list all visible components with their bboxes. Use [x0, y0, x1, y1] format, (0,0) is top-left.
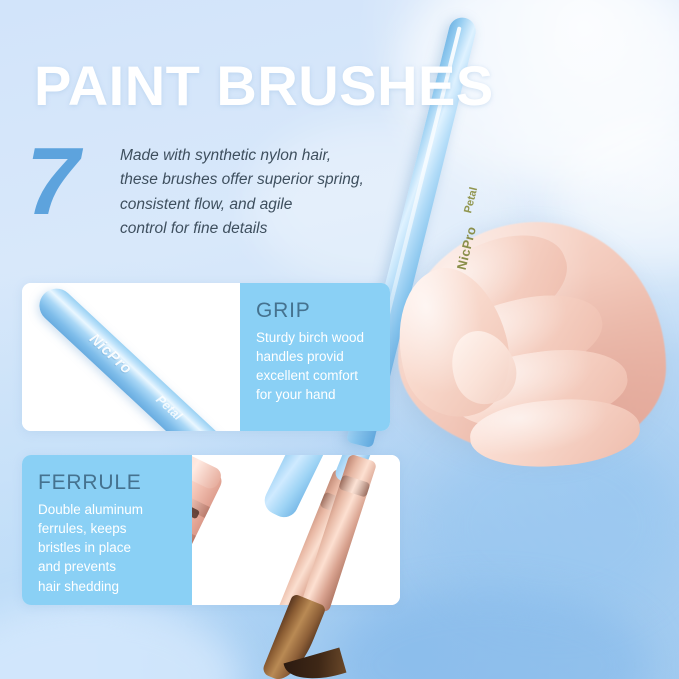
- ferrule-body-line: Double aluminum: [38, 500, 178, 519]
- grip-body-line: Sturdy birch wood: [256, 328, 376, 347]
- ferrule-closeup: [192, 455, 225, 605]
- intro-line: control for fine details: [120, 217, 450, 241]
- intro-description: Made with synthetic nylon hair, these br…: [120, 144, 450, 242]
- ferrule-body-line: ferrules, keeps: [38, 519, 178, 538]
- handle-brand: NicPro: [86, 330, 135, 377]
- grip-body-line: excellent comfort: [256, 366, 376, 385]
- grip-photo: NicPro Petal: [22, 283, 240, 431]
- ferrule-body-line: hair shedding: [38, 577, 178, 596]
- grip-body: Sturdy birch wood handles provid excelle…: [256, 328, 376, 405]
- ferrule-title: FERRULE: [38, 471, 178, 495]
- grip-body-line: handles provid: [256, 347, 376, 366]
- ferrule-body-line: and prevents: [38, 557, 178, 576]
- ferrule-text-panel: FERRULE Double aluminum ferrules, keeps …: [22, 455, 192, 605]
- product-graphic: NicPro Petal PAINT BRUSHES 7 Made with s…: [0, 0, 679, 679]
- handle-brand-sub: Petal: [153, 392, 184, 423]
- grip-title: GRIP: [256, 299, 376, 323]
- intro-line: consistent flow, and agile: [120, 193, 450, 217]
- ferrule-body-line: bristles in place: [38, 538, 178, 557]
- grip-text-panel: GRIP Sturdy birch wood handles provid ex…: [240, 283, 390, 431]
- grip-body-line: for your hand: [256, 385, 376, 404]
- page-title: PAINT BRUSHES: [34, 58, 494, 114]
- intro-line: Made with synthetic nylon hair,: [120, 144, 450, 168]
- intro-line: these brushes offer superior spring,: [120, 168, 450, 192]
- brush-handle-closeup: NicPro Petal: [32, 283, 240, 431]
- ferrule-body: Double aluminum ferrules, keeps bristles…: [38, 500, 178, 596]
- count-numeral: 7: [26, 134, 79, 230]
- ferrule-crimp-band: [338, 474, 370, 497]
- feature-card-grip: NicPro Petal GRIP Sturdy birch wood hand…: [22, 283, 390, 431]
- ferrule-cap: [192, 455, 224, 491]
